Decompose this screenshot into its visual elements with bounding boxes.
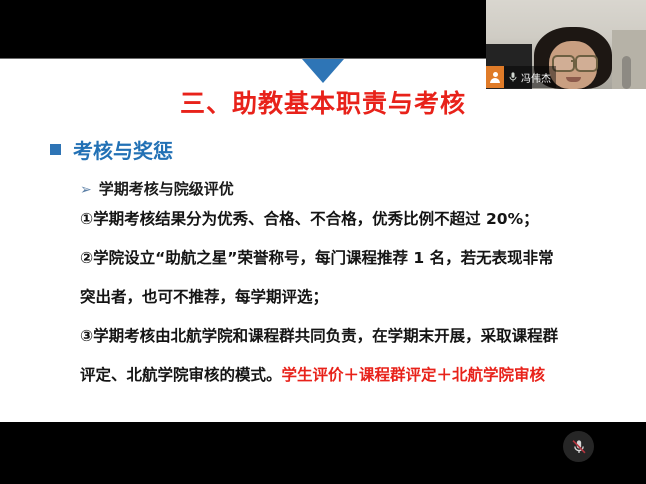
sub-heading: ➢ 学期考核与院级评优 [80, 178, 234, 199]
slide-paragraph-1: ①学期考核结果分为优秀、合格、不合格，优秀比例不超过 20%； [80, 212, 600, 228]
slide-paragraph-5: 评定、北航学院审核的模式。学生评价＋课程群评定＋北航学院审核 [80, 368, 600, 384]
mic-mute-button[interactable] [563, 431, 594, 462]
participant-glasses-right [575, 55, 598, 72]
meeting-screen-share-view: 三、助教基本职责与考核 考核与奖惩 ➢ 学期考核与院级评优 ①学期考核结果分为优… [0, 0, 646, 484]
presentation-slide[interactable]: 三、助教基本职责与考核 考核与奖惩 ➢ 学期考核与院级评优 ①学期考核结果分为优… [0, 59, 646, 422]
section-heading: 考核与奖惩 [50, 135, 173, 164]
microphone-icon [508, 71, 518, 83]
slide-paragraph-5-text: 评定、北航学院审核的模式。 [80, 366, 282, 384]
participant-name: 冯伟杰 [521, 70, 551, 85]
participant-glasses-bridge [571, 60, 575, 62]
arrow-bullet-icon: ➢ [80, 182, 92, 196]
sub-heading-label: 学期考核与院级评优 [99, 178, 234, 199]
bottom-letterbox-band [0, 422, 646, 484]
microphone-muted-icon [570, 438, 588, 456]
participant-name-wrap: 冯伟杰 [504, 66, 556, 88]
square-bullet-icon [50, 144, 61, 155]
participant-label: 冯伟杰 [486, 66, 556, 88]
video-background-object [622, 56, 631, 89]
slide-paragraph-4: ③学期考核由北航学院和课程群共同负责，在学期末开展，采取课程群 [80, 329, 600, 345]
blue-triangle-decoration [302, 59, 344, 83]
slide-title: 三、助教基本职责与考核 [0, 84, 646, 120]
participant-video-tile[interactable]: 冯伟杰 [486, 0, 646, 89]
person-icon [486, 66, 504, 88]
slide-paragraph-2: ②学院设立“助航之星”荣誉称号，每门课程推荐 1 名，若无表现非常 [80, 251, 600, 267]
slide-paragraph-3: 突出者，也可不推荐，每学期评选； [80, 290, 600, 306]
slide-highlight-text: 学生评价＋课程群评定＋北航学院审核 [282, 366, 546, 384]
section-heading-label: 考核与奖惩 [73, 135, 173, 164]
